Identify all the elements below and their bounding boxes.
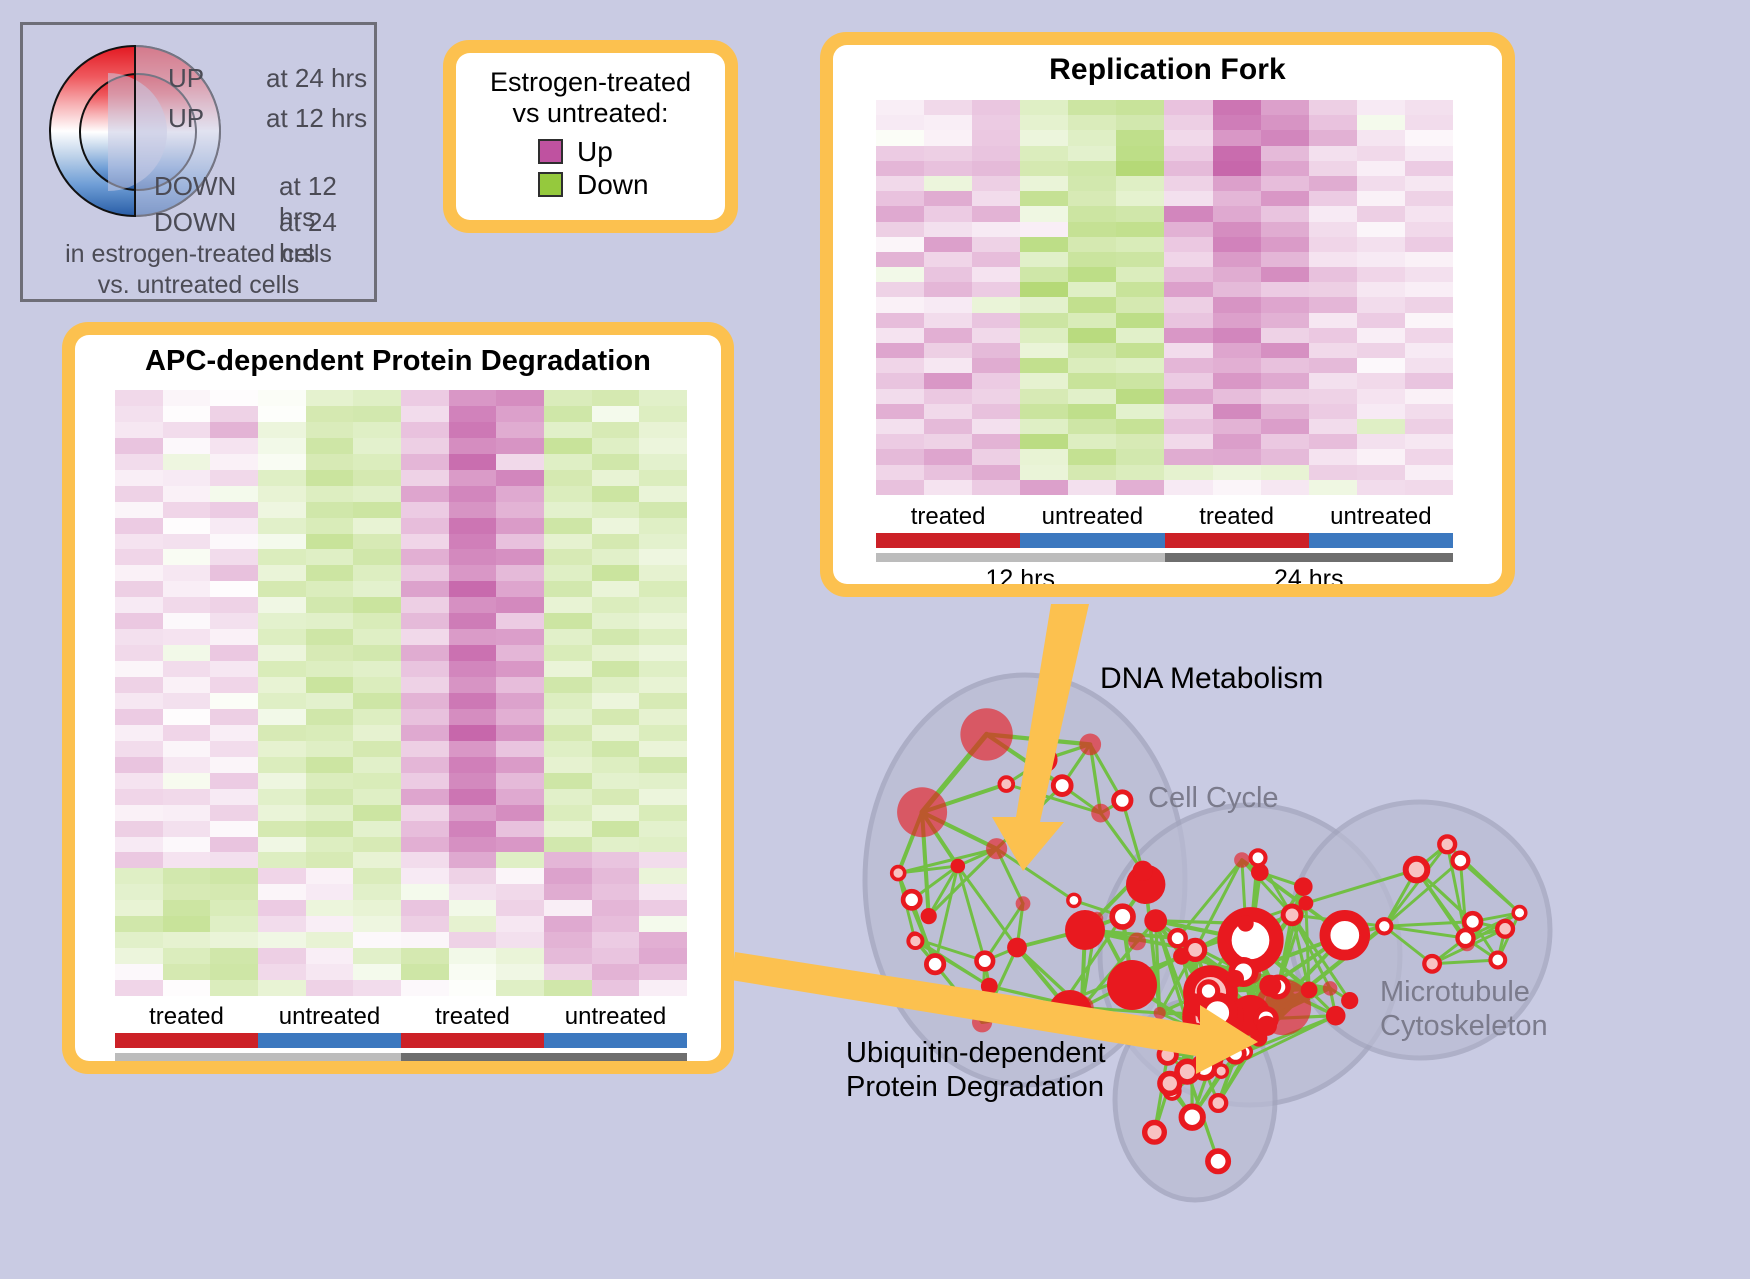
heatmap-cell [496, 454, 544, 470]
heatmap-cell [306, 948, 354, 964]
heatmap-cell [401, 948, 449, 964]
heatmap-cell [1164, 480, 1212, 495]
heatmap-cell [972, 267, 1020, 282]
heatmap-cell [1213, 465, 1261, 480]
network-node[interactable] [1068, 894, 1080, 906]
network-node[interactable] [1453, 853, 1469, 869]
heatmap-cell [876, 237, 924, 252]
heatmap-cell [1020, 191, 1068, 206]
heatmap-cell [163, 821, 211, 837]
heatmap-cell [353, 884, 401, 900]
color-key-legend: UP at 24 hrs UP at 12 hrs DOWN at 12 hrs… [20, 22, 377, 302]
heatmap-cell [924, 206, 972, 221]
network-node[interactable] [977, 953, 994, 970]
heatmap-cell [210, 709, 258, 725]
heatmap-cell [1068, 389, 1116, 404]
heatmap-cell [258, 757, 306, 773]
heatmap-cell [210, 900, 258, 916]
heatmap-cell [1068, 328, 1116, 343]
heatmap-cell [1068, 130, 1116, 145]
heatmap-cell [924, 146, 972, 161]
heatmap-cell [1213, 358, 1261, 373]
heatmap-cell [1261, 449, 1309, 464]
heatmap-cell [401, 629, 449, 645]
heatmap-cell [1020, 237, 1068, 252]
heatmap-cell [1164, 115, 1212, 130]
heatmap-cell [449, 629, 497, 645]
heatmap-cell [163, 629, 211, 645]
heatmap-cell [115, 438, 163, 454]
network-node[interactable] [1173, 948, 1190, 965]
heatmap-cell [115, 868, 163, 884]
heatmap-cell [544, 534, 592, 550]
heatmap-cell [306, 486, 354, 502]
heatmap-cell [115, 741, 163, 757]
time-label-0: 12 hrs [876, 565, 1165, 584]
network-node[interactable] [892, 867, 905, 880]
network-node[interactable] [1283, 906, 1301, 924]
heatmap-cell [353, 868, 401, 884]
network-node[interactable] [1145, 1123, 1165, 1143]
network-node[interactable] [960, 708, 1012, 760]
heatmap-cell [1213, 313, 1261, 328]
heatmap-cell [258, 693, 306, 709]
network-node[interactable] [1070, 996, 1094, 1020]
network-node[interactable] [1234, 852, 1250, 868]
heatmap-cell [876, 191, 924, 206]
network-node[interactable] [1464, 913, 1481, 930]
heatmap-cell [496, 852, 544, 868]
network-node[interactable] [1325, 916, 1365, 956]
heatmap-cell [592, 406, 640, 422]
heatmap-cell [1357, 404, 1405, 419]
network-node[interactable] [1424, 956, 1440, 972]
network-node[interactable] [1251, 850, 1266, 865]
heatmap-cell [639, 454, 687, 470]
heatmap-cell [1020, 252, 1068, 267]
network-node[interactable] [1299, 896, 1314, 911]
network-node[interactable] [1128, 933, 1146, 951]
network-node[interactable] [1159, 1046, 1176, 1063]
heatmap-cell [1309, 480, 1357, 495]
heatmap-cell [1357, 176, 1405, 191]
network-node[interactable] [926, 956, 943, 973]
heatmap-cell [1020, 206, 1068, 221]
heatmap-cell [210, 773, 258, 789]
heatmap-cell [544, 868, 592, 884]
heatmap-cell [1309, 313, 1357, 328]
heatmap-cell [876, 419, 924, 434]
network-node[interactable] [1377, 919, 1391, 933]
heatmap-cell [1164, 191, 1212, 206]
heatmap-cell [163, 422, 211, 438]
heatmap-cell [1068, 282, 1116, 297]
heatmap-cell [401, 837, 449, 853]
heatmap-cell [258, 852, 306, 868]
heatmap-cell [306, 390, 354, 406]
heatmap-cell [972, 282, 1020, 297]
heatmap-cell [1068, 343, 1116, 358]
heatmap-cell [1261, 313, 1309, 328]
heatmap-cell [210, 645, 258, 661]
heatmap-cell [115, 693, 163, 709]
heatmap-cell [1020, 449, 1068, 464]
network-node[interactable] [1208, 1031, 1229, 1052]
heatmap-cell [544, 549, 592, 565]
heatmap-cell [353, 741, 401, 757]
heatmap-cell [210, 725, 258, 741]
network-node[interactable] [1154, 1007, 1166, 1019]
network-node[interactable] [1323, 981, 1338, 996]
heatmap-cell [401, 422, 449, 438]
cluster-label-cell-cycle: Cell Cycle [1148, 782, 1279, 815]
group-label-0: treated [115, 1003, 258, 1031]
heatmap-cell [496, 629, 544, 645]
heatmap-cell [115, 502, 163, 518]
heatmap-cell [306, 629, 354, 645]
heatmap-cell [876, 358, 924, 373]
heatmap-cell [449, 502, 497, 518]
heatmap-cell [115, 390, 163, 406]
heatmap-cell [210, 789, 258, 805]
heatmap-cell [639, 916, 687, 932]
heatmap-cell [401, 693, 449, 709]
heatmap-cell [401, 773, 449, 789]
heatmap-cell [1405, 237, 1453, 252]
network-node[interactable] [981, 978, 998, 995]
heatmap-cell [353, 438, 401, 454]
heatmap-cell [1261, 267, 1309, 282]
heatmap-cell [258, 964, 306, 980]
network-node[interactable] [903, 891, 920, 908]
heatmap-cell [1309, 358, 1357, 373]
network-node[interactable] [1079, 734, 1101, 756]
heatmap-cell [306, 916, 354, 932]
heatmap-cell [163, 406, 211, 422]
heatmap-cell [876, 252, 924, 267]
heatmap-cell [449, 980, 497, 996]
heatmap-cell [1357, 449, 1405, 464]
heatmap-cell [1116, 297, 1164, 312]
heatmap-cell [1020, 146, 1068, 161]
heatmap-cell [258, 470, 306, 486]
heatmap-cell [401, 486, 449, 502]
network-node[interactable] [1054, 994, 1072, 1012]
heatmap-cell [115, 518, 163, 534]
heatmap-cell [1020, 480, 1068, 495]
network-node[interactable] [1490, 953, 1505, 968]
network-node[interactable] [1133, 861, 1153, 881]
heatmap-cell [449, 534, 497, 550]
heatmap-cell [876, 465, 924, 480]
heatmap-cell [353, 725, 401, 741]
heatmap-cell [924, 161, 972, 176]
network-node[interactable] [1513, 907, 1526, 920]
heatmap-cell [972, 449, 1020, 464]
heatmap-cell [306, 852, 354, 868]
network-node[interactable] [1199, 982, 1217, 1000]
heatmap-cell [401, 549, 449, 565]
group-labels-replication: treated untreated treated untreated [876, 503, 1453, 531]
network-node[interactable] [1257, 1016, 1277, 1036]
heatmap-cell [306, 549, 354, 565]
heatmap-cell [1020, 222, 1068, 237]
heatmap-cell [1068, 449, 1116, 464]
network-node[interactable] [986, 838, 1007, 859]
heatmap-cell [592, 852, 640, 868]
network-node[interactable] [1034, 749, 1055, 770]
network-node[interactable] [1114, 792, 1131, 809]
heatmap-cell [496, 406, 544, 422]
heatmap-cell [1405, 176, 1453, 191]
heatmap-cell [1357, 358, 1405, 373]
heatmap-cell [972, 404, 1020, 419]
heatmap-cell [115, 661, 163, 677]
network-node[interactable] [1341, 992, 1358, 1009]
heatmap-cell [353, 709, 401, 725]
heatmap-cell [353, 549, 401, 565]
heatmap-cell [449, 406, 497, 422]
heatmap-replication-fork [876, 100, 1453, 495]
heatmap-cell [401, 677, 449, 693]
network-node[interactable] [1406, 859, 1428, 881]
heatmap-cell [592, 677, 640, 693]
heatmap-cell [1213, 252, 1261, 267]
heatmap-cell [1405, 373, 1453, 388]
heatmap-cell [924, 237, 972, 252]
heatmap-cell [210, 948, 258, 964]
heatmap-cell [1261, 191, 1309, 206]
network-node[interactable] [1107, 960, 1157, 1010]
heatmap-cell [1309, 328, 1357, 343]
heatmap-cell [1116, 130, 1164, 145]
network-node[interactable] [1170, 930, 1186, 946]
heatmap-cell [544, 422, 592, 438]
heatmap-cell [401, 438, 449, 454]
heatmap-cell [1261, 434, 1309, 449]
network-node[interactable] [1053, 777, 1071, 795]
network-node[interactable] [1091, 804, 1110, 823]
heatmap-cell [972, 373, 1020, 388]
heatmap-cell [544, 661, 592, 677]
network-node[interactable] [1294, 877, 1313, 896]
heatmap-cell [544, 629, 592, 645]
heatmap-cell [1164, 161, 1212, 176]
heatmap-cell [449, 884, 497, 900]
heatmap-cell [258, 805, 306, 821]
heatmap-cell [592, 773, 640, 789]
heatmap-cell [163, 805, 211, 821]
heatmap-cell [1020, 343, 1068, 358]
heatmap-cell [876, 161, 924, 176]
heatmap-cell [1068, 115, 1116, 130]
network-node[interactable] [1227, 970, 1244, 987]
heatmap-cell [1116, 358, 1164, 373]
heatmap-cell [496, 805, 544, 821]
network-node[interactable] [1208, 1151, 1228, 1171]
heatmap-cell [1405, 358, 1453, 373]
heatmap-cell [210, 661, 258, 677]
network-node[interactable] [1065, 910, 1105, 950]
network-node[interactable] [1238, 915, 1254, 931]
heatmap-cell [972, 343, 1020, 358]
heatmap-cell [639, 821, 687, 837]
heatmap-cell [496, 757, 544, 773]
heatmap-cell [592, 837, 640, 853]
heatmap-cell [163, 980, 211, 996]
heatmap-cell [1309, 373, 1357, 388]
heatmap-cell [449, 518, 497, 534]
cluster-label-dna-metabolism: DNA Metabolism [1100, 662, 1323, 696]
network-node[interactable] [1215, 1065, 1227, 1077]
network-node[interactable] [1182, 1107, 1203, 1128]
network-node[interactable] [1144, 909, 1167, 932]
network-node[interactable] [1184, 1030, 1199, 1045]
heatmap-cell [1164, 237, 1212, 252]
network-node[interactable] [1497, 921, 1513, 937]
network-node[interactable] [1439, 836, 1455, 852]
heatmap-cell [1068, 206, 1116, 221]
sample-annotation-apc: treated untreated treated untreated 12 h… [115, 1003, 687, 1061]
heatmap-cell [449, 565, 497, 581]
group-bar-1 [258, 1033, 401, 1048]
heatmap-cell [639, 597, 687, 613]
network-node[interactable] [999, 777, 1013, 791]
heatmap-cell [1405, 297, 1453, 312]
heatmap-cell [496, 422, 544, 438]
group-bar-2 [1165, 533, 1309, 548]
heatmap-cell [1213, 373, 1261, 388]
heatmap-cell [1164, 358, 1212, 373]
heatmap-cell [1116, 191, 1164, 206]
heatmap-cell [496, 693, 544, 709]
network-node[interactable] [1210, 1095, 1226, 1111]
heatmap-cell [1405, 191, 1453, 206]
group-labels-apc: treated untreated treated untreated [115, 1003, 687, 1031]
network-node[interactable] [921, 908, 937, 924]
network-node[interactable] [908, 934, 922, 948]
heatmap-cell [115, 821, 163, 837]
heatmap-cell [163, 549, 211, 565]
heatmap-cell [115, 773, 163, 789]
heatmap-cell [876, 389, 924, 404]
cluster-label-ubq-line1: Ubiquitin-dependent [846, 1037, 1106, 1071]
heatmap-cell [306, 693, 354, 709]
heatmap-cell [353, 837, 401, 853]
heatmap-cell [876, 297, 924, 312]
heatmap-cell [1116, 313, 1164, 328]
heatmap-cell [449, 948, 497, 964]
heatmap-cell [210, 884, 258, 900]
time-color-bar-apc [115, 1053, 687, 1061]
heatmap-cell [353, 581, 401, 597]
heatmap-cell [210, 454, 258, 470]
heatmap-cell [163, 645, 211, 661]
heatmap-cell [1020, 389, 1068, 404]
heatmap-cell [353, 932, 401, 948]
heatmap-cell [1020, 297, 1068, 312]
heatmap-cell [1261, 358, 1309, 373]
network-node[interactable] [951, 859, 966, 874]
network-node[interactable] [1016, 896, 1031, 911]
heatmap-cell [1357, 222, 1405, 237]
network-node[interactable] [1458, 930, 1474, 946]
heatmap-cell [1164, 404, 1212, 419]
heatmap-cell [115, 645, 163, 661]
heatmap-cell [1309, 282, 1357, 297]
heatmap-cell [592, 581, 640, 597]
heatmap-cell [1357, 343, 1405, 358]
heatmap-cell [592, 757, 640, 773]
heatmap-cell [592, 932, 640, 948]
network-node[interactable] [1007, 938, 1027, 958]
group-label-1: untreated [1020, 503, 1164, 531]
heatmap-cell [449, 789, 497, 805]
heatmap-cell [876, 100, 924, 115]
heatmap-cell [544, 884, 592, 900]
network-node[interactable] [1112, 906, 1133, 927]
heatmap-cell [1116, 267, 1164, 282]
network-node[interactable] [1326, 1006, 1346, 1026]
heatmap-cell [306, 677, 354, 693]
heatmap-cell [544, 741, 592, 757]
heatmap-cell [306, 534, 354, 550]
network-node[interactable] [1301, 982, 1318, 999]
heatmap-cell [1261, 252, 1309, 267]
heatmap-cell [592, 470, 640, 486]
heatmap-cell [639, 868, 687, 884]
heatmap-cell [639, 661, 687, 677]
heatmap-cell [1213, 237, 1261, 252]
heatmap-cell [544, 964, 592, 980]
heatmap-cell [924, 100, 972, 115]
heatmap-cell [1357, 419, 1405, 434]
network-node[interactable] [1177, 1061, 1198, 1082]
heatmap-cell [210, 932, 258, 948]
heatmap-cell [210, 502, 258, 518]
heatmap-cell [876, 146, 924, 161]
heatmap-cell [876, 449, 924, 464]
heatmap-cell [592, 597, 640, 613]
heatmap-cell [258, 821, 306, 837]
network-node[interactable] [1259, 975, 1281, 997]
heatmap-cell [163, 661, 211, 677]
heatmap-cell [592, 422, 640, 438]
heatmap-cell [163, 518, 211, 534]
heatmap-cell [449, 805, 497, 821]
heatmap-cell [1309, 404, 1357, 419]
network-node[interactable] [897, 787, 947, 837]
heatmap-cell [401, 406, 449, 422]
heatmap-cell [449, 645, 497, 661]
heatmap-cell [115, 581, 163, 597]
heatmap-cell [1116, 206, 1164, 221]
heatmap-cell [1213, 449, 1261, 464]
heatmap-cell [1405, 161, 1453, 176]
heatmap-cell [972, 222, 1020, 237]
heatmap-cell [1164, 176, 1212, 191]
network-node[interactable] [972, 1012, 992, 1032]
heatmap-cell [258, 837, 306, 853]
heatmap-cell [210, 438, 258, 454]
heatmap-cell [353, 629, 401, 645]
heatmap-cell [210, 518, 258, 534]
heatmap-cell [163, 581, 211, 597]
heatmap-cell [449, 613, 497, 629]
heatmap-cell [972, 206, 1020, 221]
key-label-down-12: DOWN [154, 171, 236, 202]
heatmap-cell [972, 115, 1020, 130]
